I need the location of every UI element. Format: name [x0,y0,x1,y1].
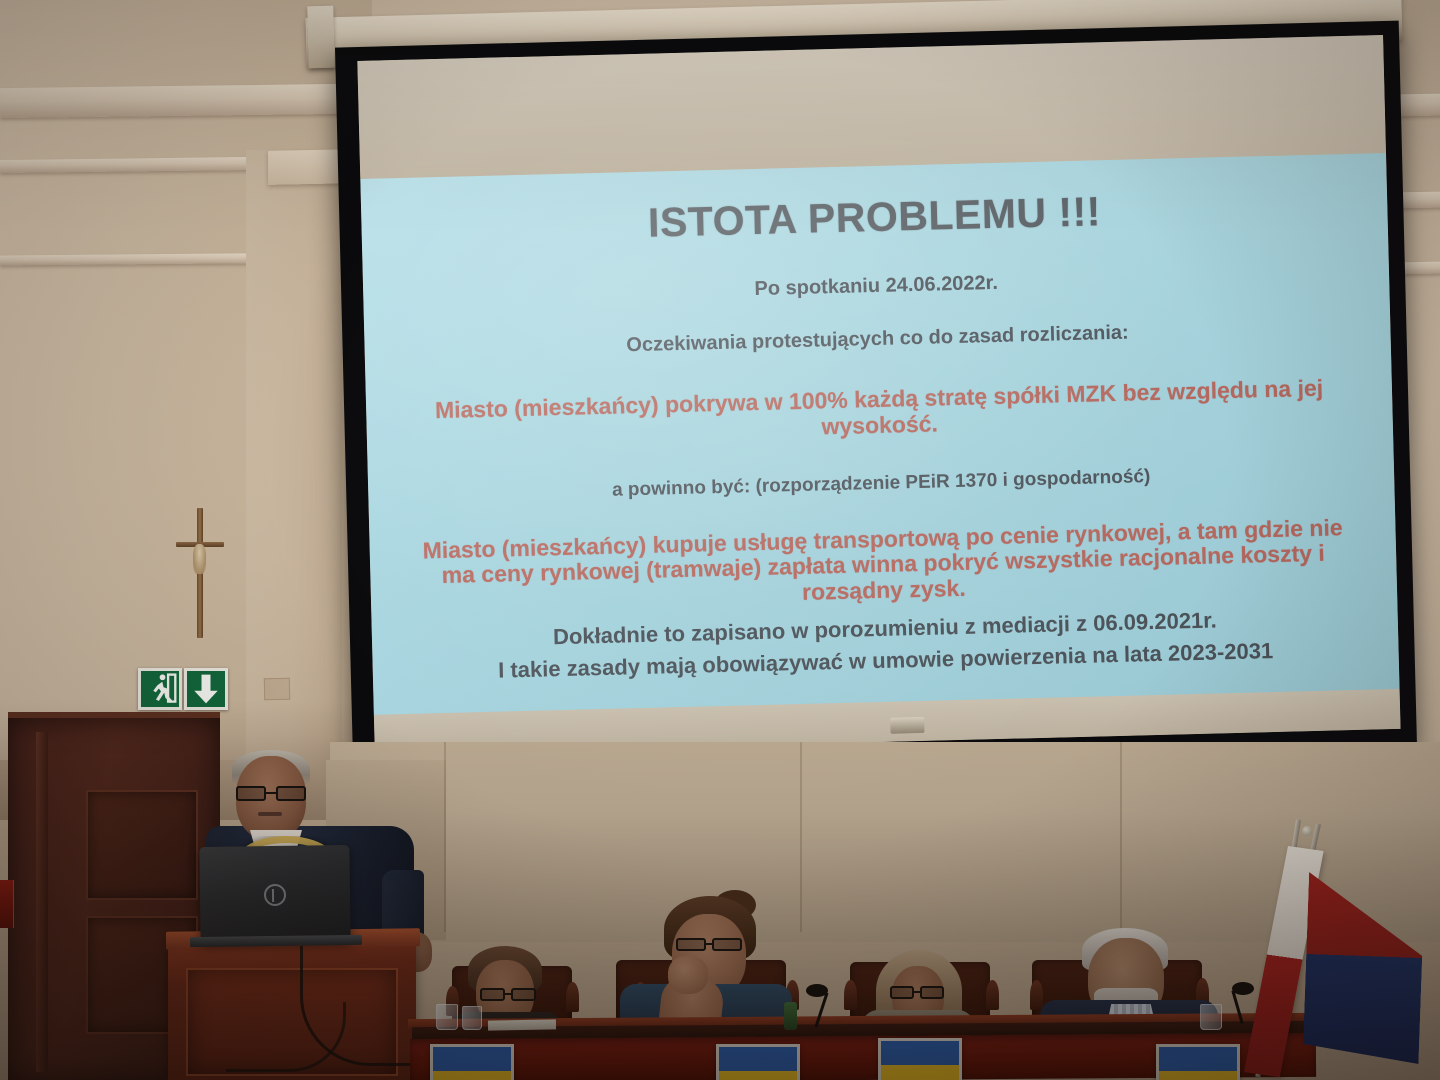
panelist-3-lens-left [890,986,914,999]
wall-mounted-plate [264,678,290,700]
slide-accent-paragraph-2: Miasto (mieszkańcy) kupuje usługę transp… [409,514,1357,615]
slide-accent-paragraph-1: Miasto (mieszkańcy) pokrywa w 100% każdą… [406,375,1353,450]
speaker-glasses-bridge [266,792,276,794]
ukraine-flag-1 [430,1044,514,1080]
conference-room-scene: ISTOTA PROBLEMU !!! Po spotkaniu 24.06.2… [0,0,1440,1080]
wall-pilaster [246,150,342,770]
roller-bracket-left [307,6,335,69]
panelist-2-lens-right [712,938,742,951]
projection-screen-surface: ISTOTA PROBLEMU !!! Po spotkaniu 24.06.2… [357,35,1400,755]
door-panel-upper [86,790,198,900]
panelist-1-lens-right [511,988,536,1001]
slide-should-be-line: a powinno być: (rozporządzenie PEiR 1370… [408,460,1354,506]
projection-screen: ISTOTA PROBLEMU !!! Po spotkaniu 24.06.2… [335,21,1417,774]
speaker-lens-right [276,786,306,801]
documents-on-table [488,1019,556,1030]
emergency-exit-running-man-icon [138,668,182,710]
door-stile [36,732,48,1072]
ukraine-flag-3 [878,1038,962,1080]
panelist-3-glasses-bridge [914,991,921,993]
panelist-2-glasses-icon [676,938,746,951]
panelist-3-lens-right [920,986,944,999]
ukraine-flag-4 [1156,1044,1240,1080]
speaker-lens-left [236,786,266,801]
crucifix-figure [193,544,206,574]
panelist-2-hand [668,956,708,994]
panelist-2-glasses-bridge [706,943,714,945]
hp-logo-icon [264,884,286,906]
laptop[interactable] [199,845,350,943]
bottle [784,1002,797,1030]
back-wall-seam-2 [800,742,802,932]
panelist-2-lens-left [676,938,706,951]
crucifix-icon [176,508,224,638]
back-wall-below-screen [330,742,1440,942]
presentation-slide: ISTOTA PROBLEMU !!! Po spotkaniu 24.06.2… [360,153,1399,715]
cornice-molding-1 [0,84,340,118]
panelist-1-glasses-bridge [505,993,513,995]
slide-date-line: Po spotkaniu 24.06.2022r. [403,263,1349,310]
chair-finial-2 [566,982,579,1012]
speaker-glasses-icon [236,786,308,801]
panelist-3-glasses-icon [890,986,946,999]
ukraine-flag-2 [716,1044,800,1080]
drinking-glass-1 [436,1004,458,1030]
slide-title: ISTOTA PROBLEMU !!! [401,182,1348,253]
screen-pull-handle[interactable] [890,717,924,734]
drinking-glass-3 [1200,1004,1222,1030]
chair-finial-7 [1030,980,1043,1010]
microphone-head-1 [806,984,828,997]
chair-finial-6 [986,980,999,1010]
emergency-exit-down-arrow-icon [184,668,228,710]
microphone-head-2 [1232,982,1254,995]
chair-finial-5 [844,980,857,1010]
speaker-mouth [258,812,282,816]
back-wall-seam-3 [1120,742,1122,932]
slide-expectation-line: Oczekiwania protestujących co do zasad r… [404,316,1350,363]
panelist-1-glasses-icon [480,988,538,1001]
back-wall-seam-1 [444,742,446,932]
drinking-glass-2 [462,1006,482,1030]
fire-equipment-box [0,880,14,928]
panelist-1-lens-left [480,988,505,1001]
